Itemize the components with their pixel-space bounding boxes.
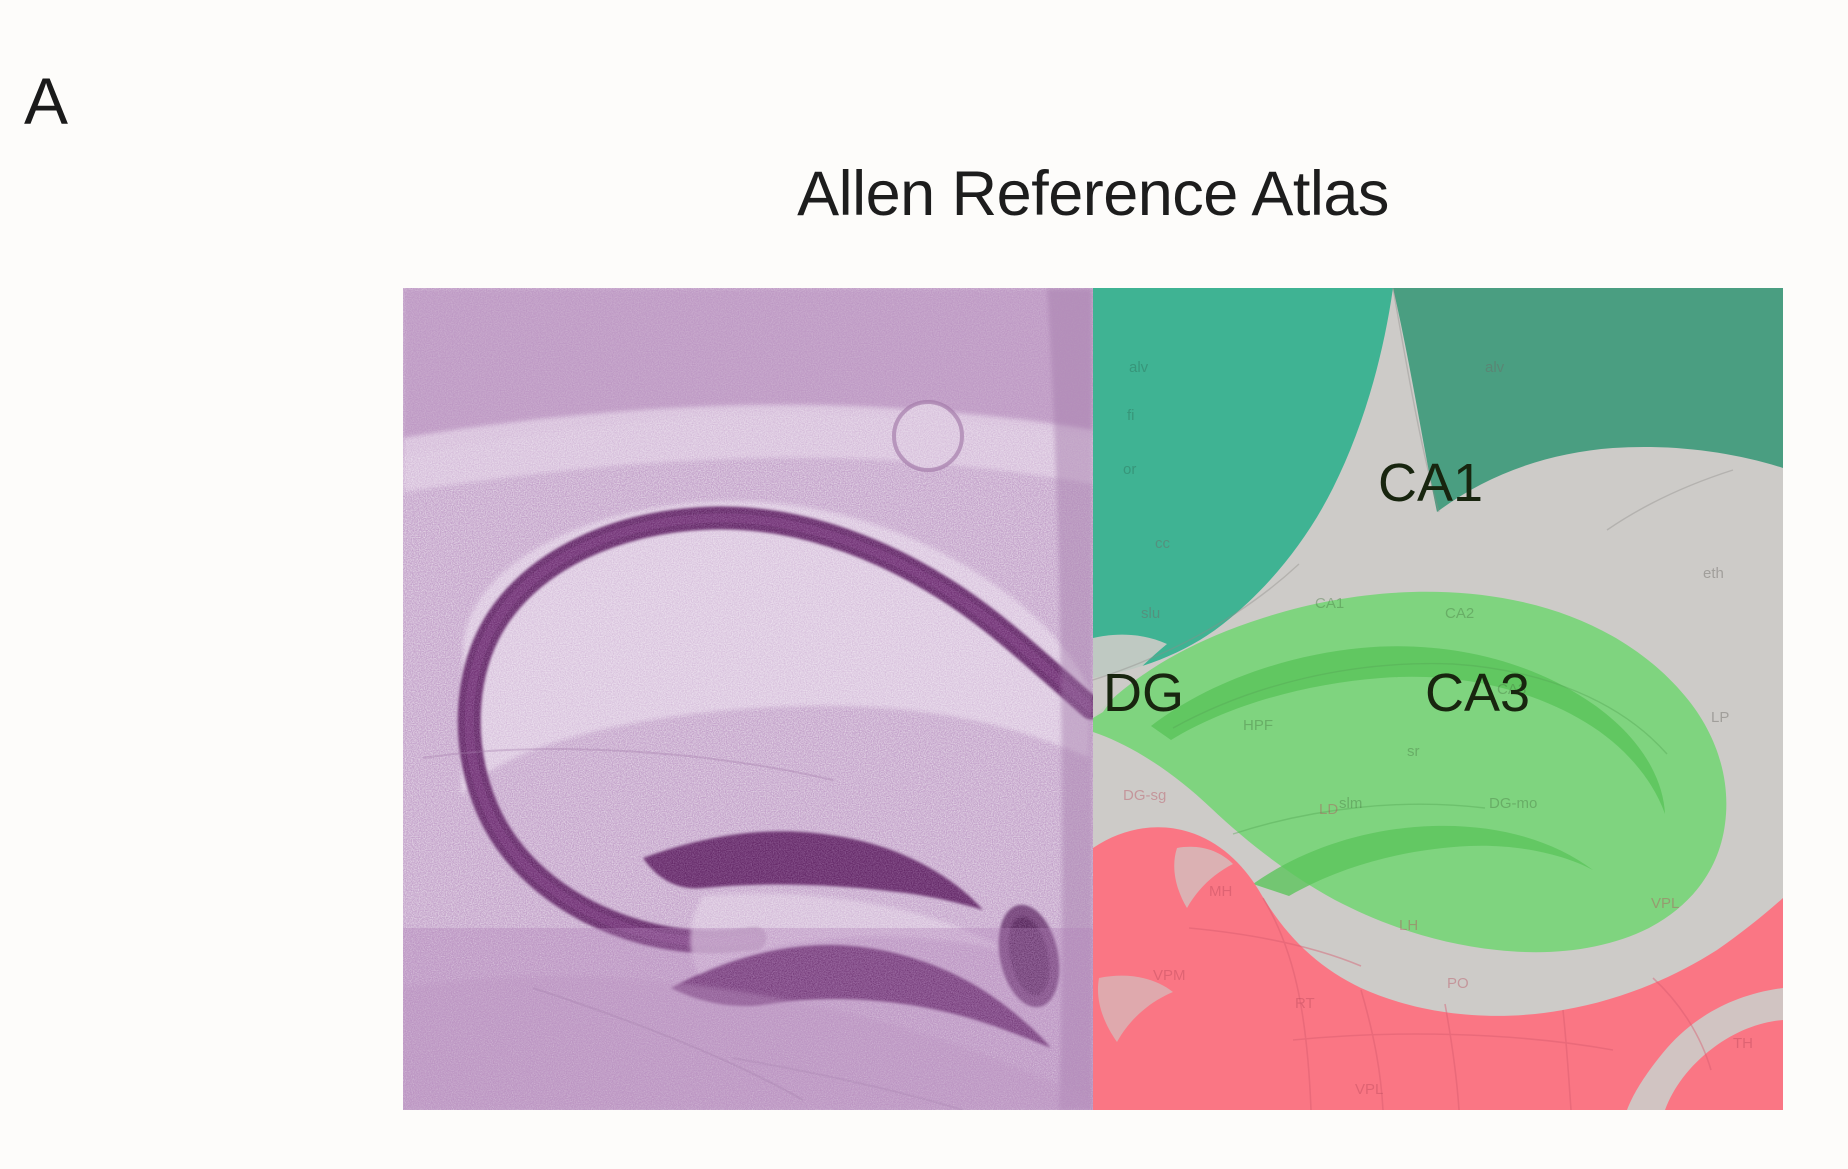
svg-text:DG-mo: DG-mo <box>1489 795 1537 812</box>
region-label-dg: DG <box>1103 666 1184 720</box>
svg-text:fi: fi <box>1127 407 1135 424</box>
svg-text:RT: RT <box>1295 995 1315 1012</box>
figure-root: A Allen Reference Atlas <box>0 0 1848 1169</box>
svg-text:VPL: VPL <box>1651 895 1679 912</box>
svg-text:DG-sg: DG-sg <box>1123 787 1166 804</box>
svg-text:LD: LD <box>1319 801 1338 818</box>
svg-text:slm: slm <box>1339 795 1362 812</box>
figure-title: Allen Reference Atlas <box>403 163 1783 226</box>
svg-text:PO: PO <box>1447 975 1469 992</box>
svg-text:MH: MH <box>1209 883 1232 900</box>
svg-text:VPM: VPM <box>1153 967 1186 984</box>
nissl-stained-half <box>403 288 1093 1110</box>
svg-text:LP: LP <box>1711 709 1729 726</box>
region-label-ca1: CA1 <box>1378 456 1483 510</box>
region-label-ca3: CA3 <box>1425 666 1530 720</box>
svg-text:cc: cc <box>1155 535 1171 552</box>
nissl-histology-graphic <box>403 288 1093 1110</box>
svg-text:VPL: VPL <box>1355 1081 1383 1098</box>
panel-letter-label: A <box>24 68 68 134</box>
svg-text:alv: alv <box>1485 359 1505 376</box>
svg-text:eth: eth <box>1703 565 1724 582</box>
svg-text:or: or <box>1123 461 1136 478</box>
svg-text:HPF: HPF <box>1243 717 1273 734</box>
svg-text:LH: LH <box>1399 917 1418 934</box>
brain-section-image: alv fi or alv cc slu CA1 HPF CA2 CA3 sr … <box>403 288 1783 1110</box>
svg-text:CA1: CA1 <box>1315 595 1344 612</box>
svg-text:alv: alv <box>1129 359 1149 376</box>
svg-text:CA2: CA2 <box>1445 605 1474 622</box>
svg-text:TH: TH <box>1733 1035 1753 1052</box>
svg-text:slu: slu <box>1141 605 1160 622</box>
svg-text:sr: sr <box>1407 743 1420 760</box>
